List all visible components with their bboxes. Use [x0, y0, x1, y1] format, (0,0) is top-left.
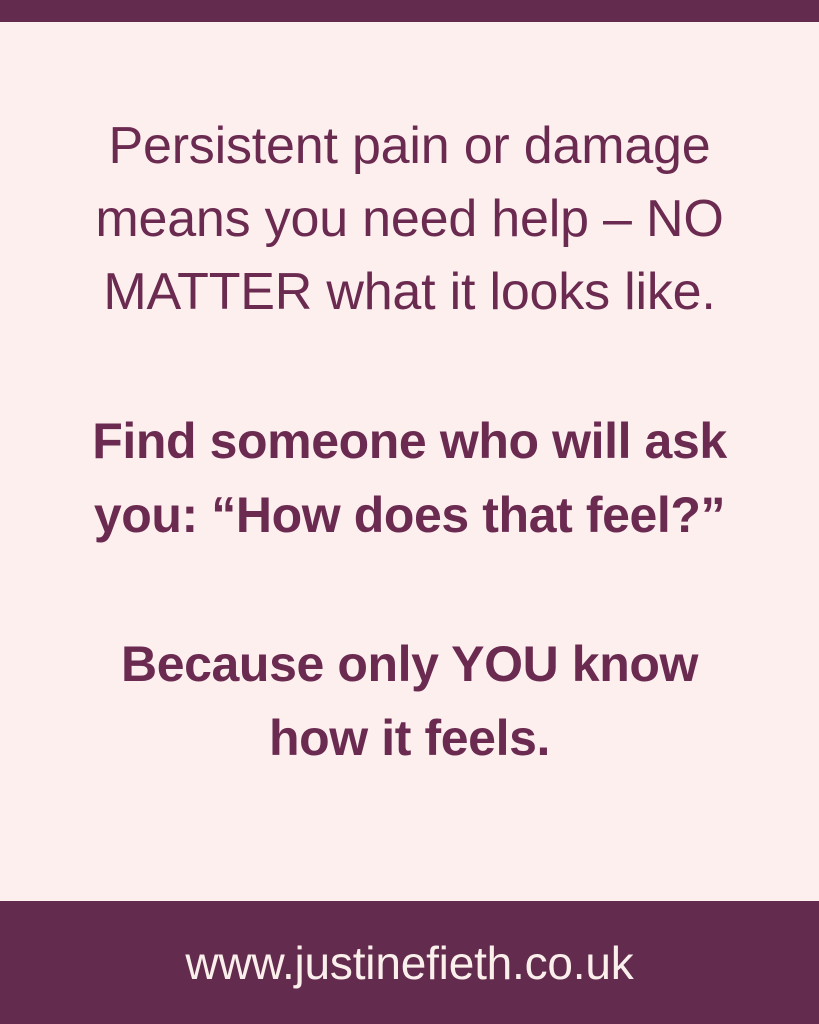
poster-graphic: Persistent pain or damage means you need…: [0, 0, 819, 1024]
website-url: www.justinefieth.co.uk: [185, 940, 633, 986]
text-line: you: “How does that feel?”: [80, 478, 739, 552]
text-line: Persistent pain or damage: [80, 110, 739, 183]
paragraph-closing: Because only YOU know how it feels.: [80, 627, 739, 775]
text-line: MATTER what it looks like.: [80, 256, 739, 329]
text-line: means you need help – NO: [80, 183, 739, 256]
paragraph-intro: Persistent pain or damage means you need…: [80, 110, 739, 329]
poster-content: Persistent pain or damage means you need…: [0, 22, 819, 901]
text-line: Because only YOU know: [80, 627, 739, 701]
top-accent-bar: [0, 0, 819, 22]
message-stack: Persistent pain or damage means you need…: [80, 110, 739, 775]
footer-bar: www.justinefieth.co.uk: [0, 901, 819, 1024]
paragraph-call-to-action: Find someone who will ask you: “How does…: [80, 404, 739, 552]
text-line: how it feels.: [80, 701, 739, 775]
text-line: Find someone who will ask: [80, 404, 739, 478]
